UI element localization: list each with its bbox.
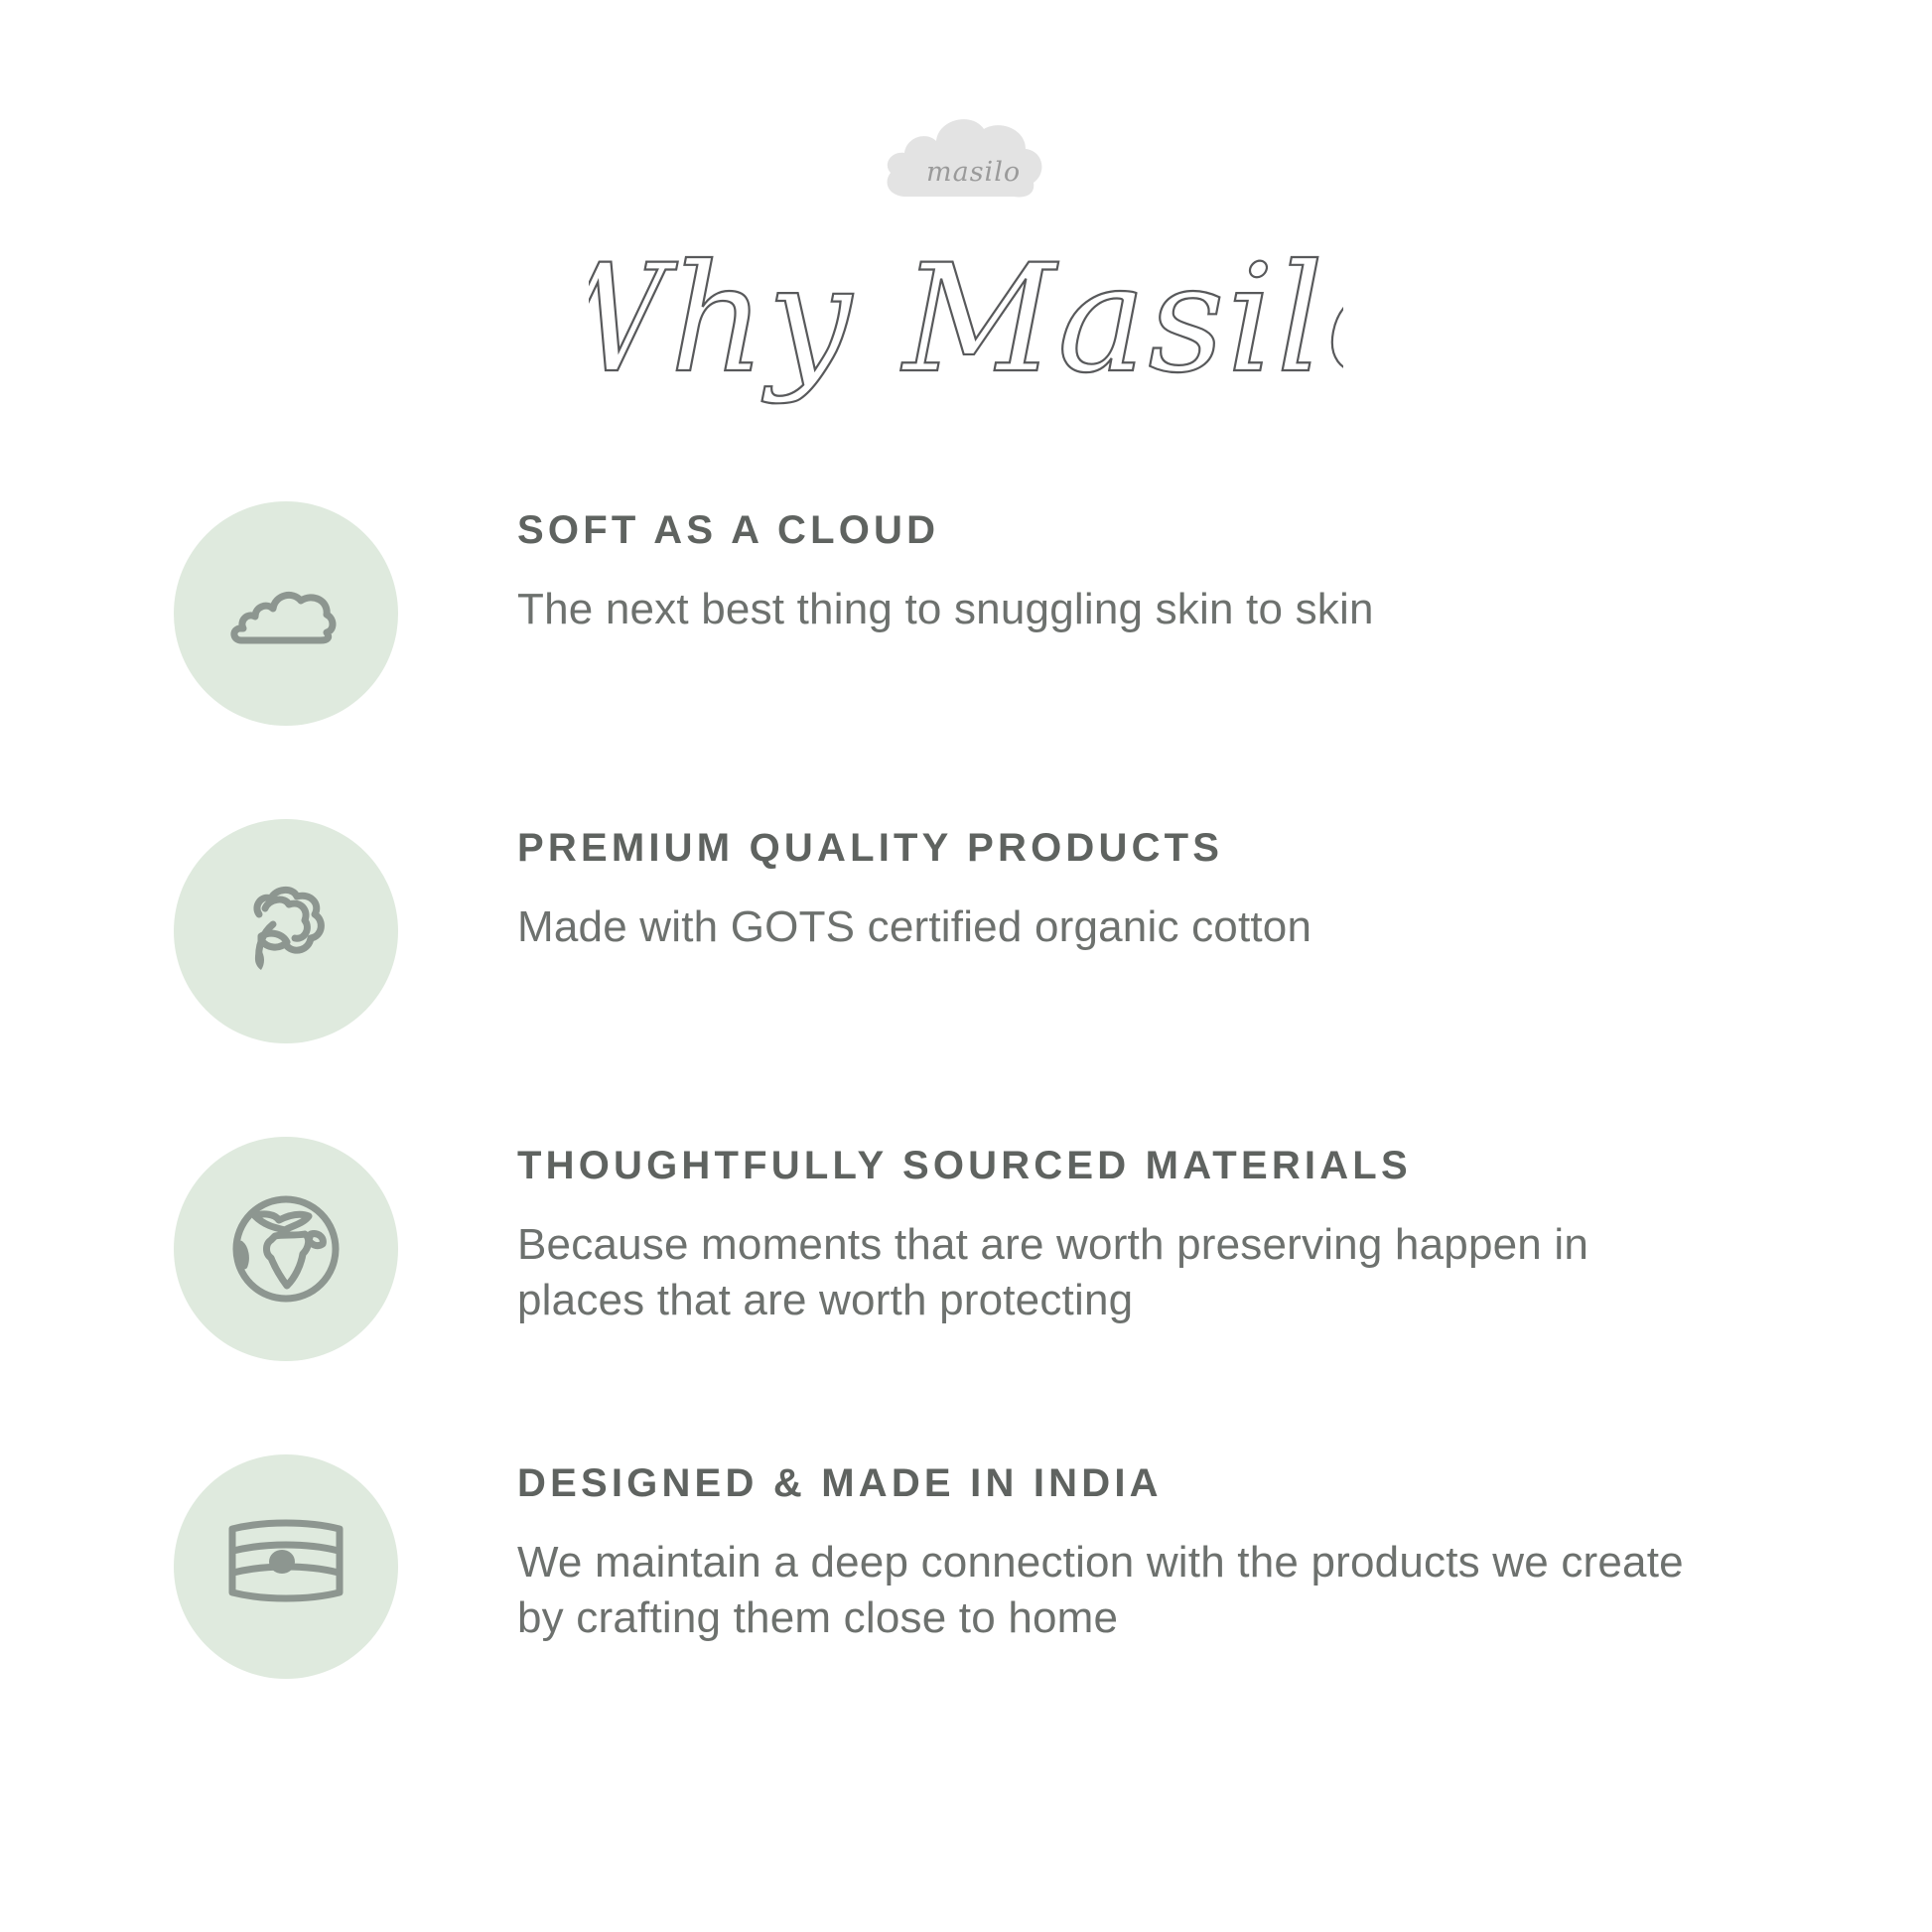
page-title-text: Why Masilo	[589, 236, 1343, 406]
feature-body: The next best thing to snuggling skin to…	[517, 582, 1709, 637]
feature-icon-circle	[174, 819, 398, 1043]
brand-logo: masilo	[0, 94, 1932, 213]
why-masilo-page: masilo Why Masilo SOFT AS A CLOUD The ne…	[0, 0, 1932, 1932]
cloud-logo-icon: masilo	[877, 97, 1055, 211]
feature-body: We maintain a deep connection with the p…	[517, 1535, 1709, 1647]
page-title: Why Masilo	[0, 236, 1932, 415]
globe-icon	[219, 1182, 352, 1315]
feature-heading: PREMIUM QUALITY PRODUCTS	[517, 826, 1709, 870]
feature-heading: THOUGHTFULLY SOURCED MATERIALS	[517, 1144, 1709, 1187]
feature-text-block: DESIGNED & MADE IN INDIA We maintain a d…	[398, 1430, 1709, 1647]
feature-icon-circle	[174, 1137, 398, 1361]
feature-text-block: SOFT AS A CLOUD The next best thing to s…	[398, 477, 1709, 637]
feature-row-thoughtfully-sourced-materials: THOUGHTFULLY SOURCED MATERIALS Because m…	[0, 1112, 1932, 1430]
cloud-icon	[221, 549, 350, 678]
feature-row-soft-as-a-cloud: SOFT AS A CLOUD The next best thing to s…	[0, 477, 1932, 794]
feature-body: Made with GOTS certified organic cotton	[517, 899, 1709, 955]
feature-list: SOFT AS A CLOUD The next best thing to s…	[0, 477, 1932, 1747]
feature-body: Because moments that are worth preservin…	[517, 1217, 1709, 1329]
feature-icon-circle	[174, 501, 398, 726]
cotton-boll-icon	[221, 867, 350, 996]
brand-wordmark: masilo	[926, 157, 1021, 188]
feature-heading: DESIGNED & MADE IN INDIA	[517, 1461, 1709, 1505]
feature-text-block: PREMIUM QUALITY PRODUCTS Made with GOTS …	[398, 794, 1709, 955]
feature-row-designed-made-in-india: DESIGNED & MADE IN INDIA We maintain a d…	[0, 1430, 1932, 1747]
feature-row-premium-quality-products: PREMIUM QUALITY PRODUCTS Made with GOTS …	[0, 794, 1932, 1112]
india-flag-icon	[216, 1507, 355, 1626]
feature-icon-circle	[174, 1454, 398, 1679]
feature-heading: SOFT AS A CLOUD	[517, 508, 1709, 552]
feature-text-block: THOUGHTFULLY SOURCED MATERIALS Because m…	[398, 1112, 1709, 1329]
